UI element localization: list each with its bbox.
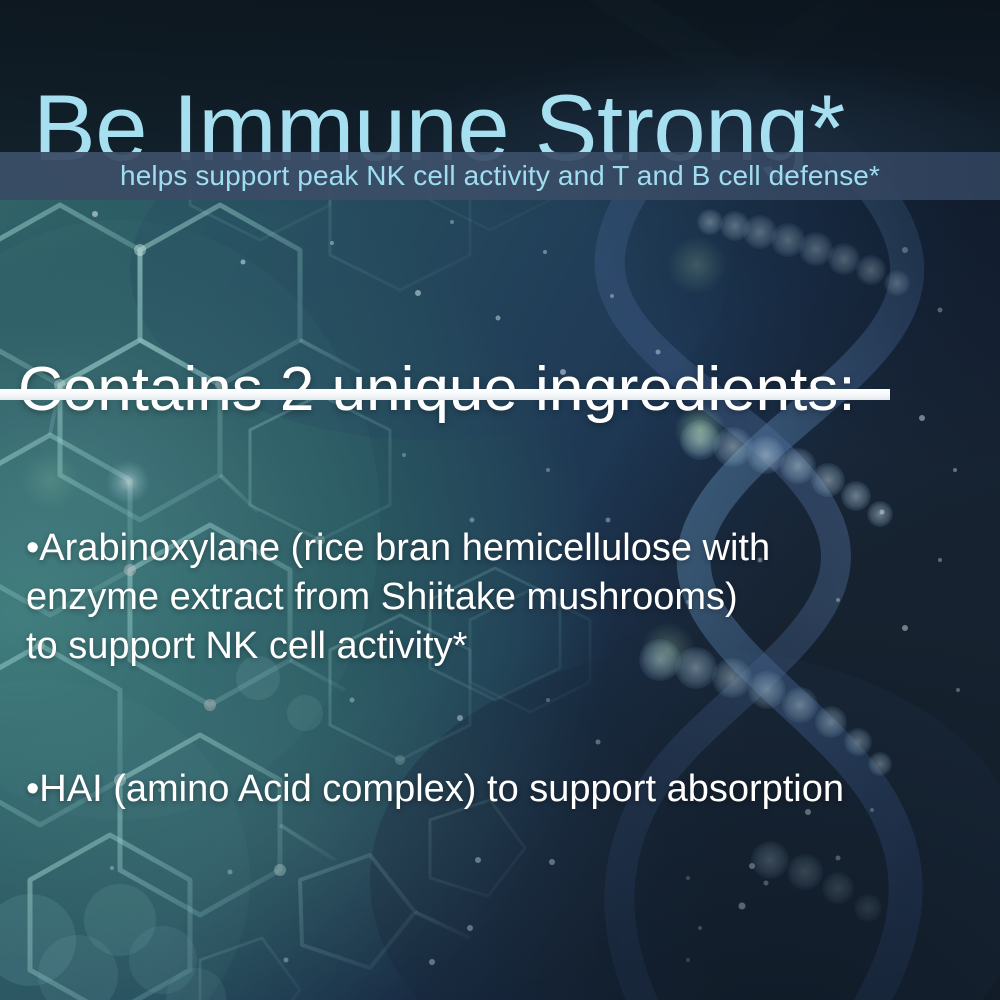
page-subtitle: helps support peak NK cell activity and …: [0, 152, 1000, 200]
ingredient-bullet-hai: •HAI (amino Acid complex) to support abs…: [26, 765, 844, 814]
helix-beads-mid: [680, 420, 893, 527]
bubble-cluster: [0, 656, 323, 1000]
ingredient-bullet-arabinoxylane: •Arabinoxylane (rice bran hemicellulose …: [26, 524, 770, 671]
helix-beads-bottom: [751, 841, 882, 922]
helix-beads-upper: [697, 209, 910, 296]
heading-underline-rule: [0, 389, 890, 400]
immune-support-poster: Be Immune Strong* helps support peak NK …: [0, 0, 1000, 1000]
